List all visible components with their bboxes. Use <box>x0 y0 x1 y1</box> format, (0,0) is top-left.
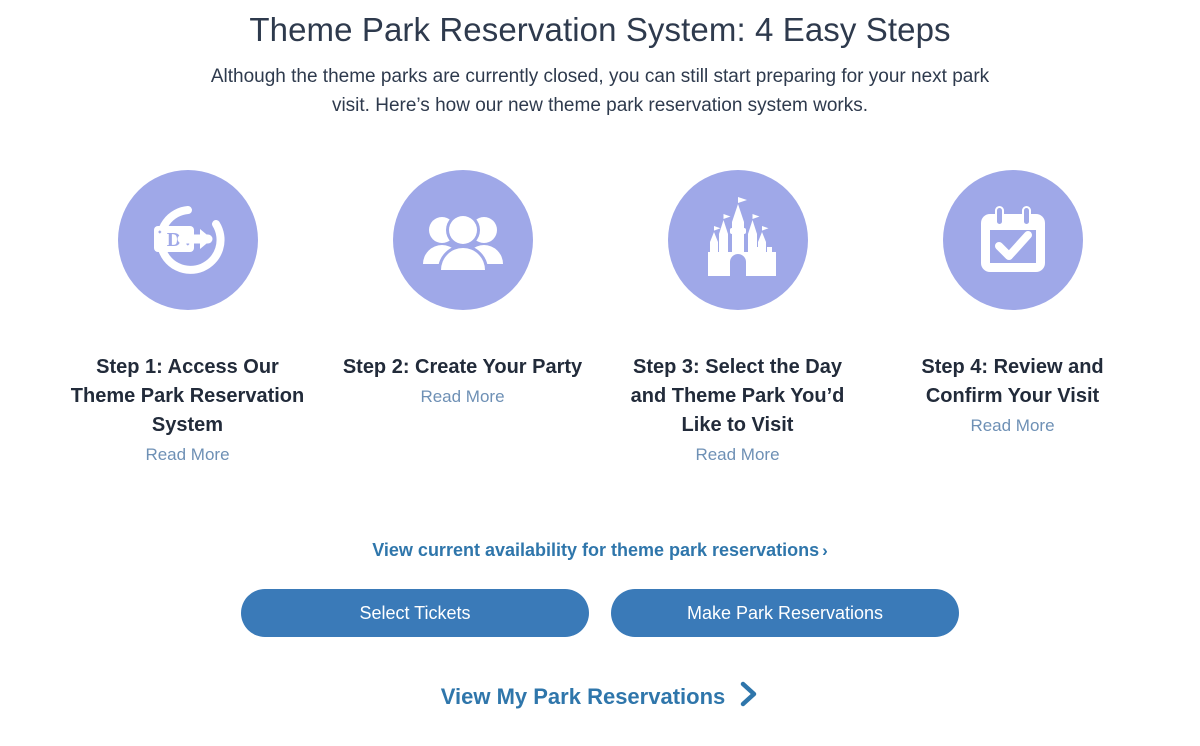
chevron-right-icon: › <box>822 541 828 560</box>
step-1-read-more-link[interactable]: Read More <box>145 442 229 468</box>
chevron-right-bold-icon <box>739 681 759 713</box>
select-tickets-button[interactable]: Select Tickets <box>241 589 589 637</box>
page-title: Theme Park Reservation System: 4 Easy St… <box>0 8 1200 52</box>
step-4-icon-circle <box>943 170 1083 310</box>
card-arrow-access-icon: D <box>142 194 234 286</box>
view-my-park-reservations-link[interactable]: View My Park Reservations <box>441 681 760 713</box>
cta-buttons-row: Select Tickets Make Park Reservations <box>0 589 1200 637</box>
step-item-1: D Step 1: Access Our Theme Park Reservat… <box>50 170 325 468</box>
step-1-icon-circle: D <box>118 170 258 310</box>
step-2-caption: Step 2: Create Your Party <box>343 353 583 382</box>
view-availability-link[interactable]: View current availability for theme park… <box>372 540 828 560</box>
castle-icon <box>692 194 784 286</box>
step-4-caption: Step 4: Review and Confirm Your Visit <box>893 353 1133 411</box>
view-my-park-reservations-label: View My Park Reservations <box>441 684 726 710</box>
step-2-read-more-link[interactable]: Read More <box>420 384 504 410</box>
step-1-caption: Step 1: Access Our Theme Park Reservatio… <box>68 353 308 440</box>
view-availability-label: View current availability for theme park… <box>372 540 819 560</box>
step-3-caption: Step 3: Select the Day and Theme Park Yo… <box>618 353 858 440</box>
steps-list: D Step 1: Access Our Theme Park Reservat… <box>0 170 1200 468</box>
calendar-check-icon <box>967 194 1059 286</box>
availability-row: View current availability for theme park… <box>0 540 1200 561</box>
page-header: Theme Park Reservation System: 4 Easy St… <box>0 0 1200 120</box>
step-3-read-more-link[interactable]: Read More <box>695 442 779 468</box>
group-people-icon <box>417 194 509 286</box>
theme-park-reservation-page: Theme Park Reservation System: 4 Easy St… <box>0 0 1200 746</box>
step-2-icon-circle <box>393 170 533 310</box>
step-3-icon-circle <box>668 170 808 310</box>
make-park-reservations-button[interactable]: Make Park Reservations <box>611 589 959 637</box>
bottom-link-row: View My Park Reservations <box>0 681 1200 713</box>
page-subtitle: Although the theme parks are currently c… <box>200 62 1000 120</box>
step-item-2: Step 2: Create Your Party Read More <box>325 170 600 410</box>
step-item-3: Step 3: Select the Day and Theme Park Yo… <box>600 170 875 468</box>
step-4-read-more-link[interactable]: Read More <box>970 413 1054 439</box>
step-item-4: Step 4: Review and Confirm Your Visit Re… <box>875 170 1150 439</box>
